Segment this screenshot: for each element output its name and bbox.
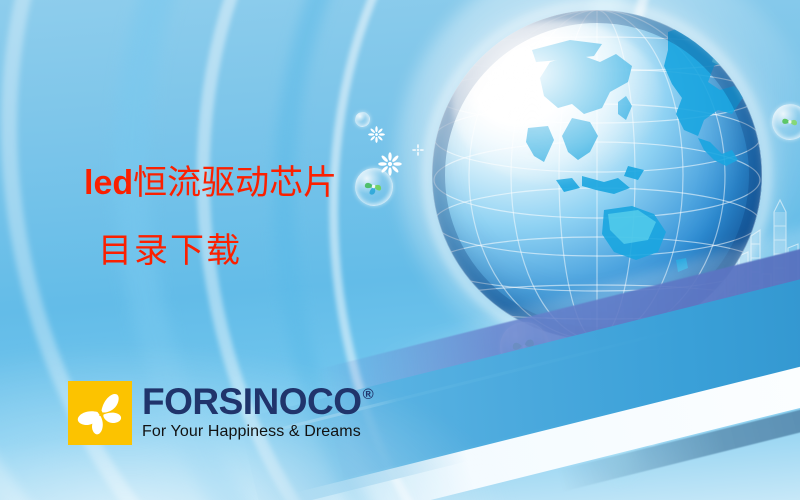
headline-block: led恒流驱动芯片 目录下载 (84, 163, 337, 272)
bubble-icon (355, 112, 370, 127)
flower-sparkle-icon (368, 126, 385, 143)
headline-line-1-chinese: 恒流驱动芯片 (133, 165, 337, 202)
headline-line-2: 目录下载 (98, 232, 337, 272)
headline-line-1: led恒流驱动芯片 (84, 163, 337, 204)
pinwheel-icon (362, 175, 385, 198)
headline-line-1-latin: led (84, 164, 133, 202)
bubble-icon (355, 168, 393, 206)
pinwheel-icon (779, 111, 800, 133)
brand-name: FORSINOCO (142, 385, 362, 419)
bubble-icon (772, 104, 800, 140)
brand-text: FORSINOCO® For Your Happiness & Dreams (142, 385, 373, 441)
banner-image: led恒流驱动芯片 目录下载 FORSINOCO® For Your Happi… (0, 0, 800, 500)
registered-mark: ® (363, 387, 374, 402)
brand-logo: FORSINOCO® For Your Happiness & Dreams (68, 381, 373, 445)
brand-wordmark: FORSINOCO® (142, 385, 373, 419)
brand-tagline: For Your Happiness & Dreams (142, 422, 373, 441)
four-petal-flower-icon (68, 381, 132, 445)
flower-sparkle-icon (412, 144, 424, 156)
